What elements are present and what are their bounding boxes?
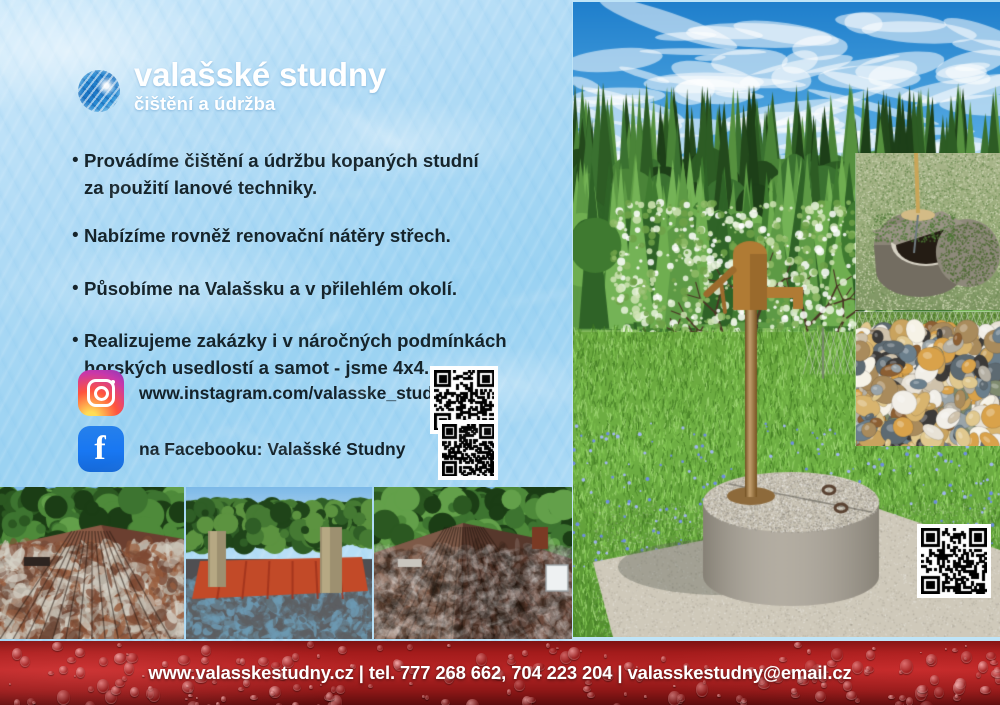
left-info-panel: valašské studny čištění a údržba • Prová… — [0, 0, 572, 641]
instagram-url[interactable]: www.instagram.com/valasske_studny/ — [139, 383, 458, 404]
list-item: • Působíme na Valašsku a v přilehlém oko… — [72, 276, 542, 303]
open-stone-well-photo — [855, 153, 1000, 310]
river-pebbles-canvas — [856, 312, 1000, 446]
service-line-1: Provádíme čištění a údržbu kopaných stud… — [84, 150, 479, 171]
service-line-1: Působíme na Valašsku a v přilehlém okolí… — [84, 278, 457, 299]
roof-photo-3-canvas — [374, 487, 572, 639]
open-stone-well-canvas — [856, 153, 1000, 310]
service-text: Provádíme čištění a údržbu kopaných stud… — [84, 148, 479, 201]
water-ripple — [49, 215, 69, 225]
list-item: • Nabízíme rovněž renovační nátěry střec… — [72, 223, 542, 250]
instagram-lens-shape — [94, 386, 109, 401]
logo: valašské studny čištění a údržba — [78, 58, 386, 115]
logo-text-block: valašské studny čištění a údržba — [134, 58, 386, 115]
service-line-2: za použití lanové techniky. — [84, 175, 479, 202]
services-list: • Provádíme čištění a údržbu kopaných st… — [72, 148, 542, 403]
bullet-marker: • — [72, 148, 84, 201]
water-ripple — [174, 14, 199, 28]
instagram-dot-shape — [111, 380, 115, 384]
instagram-icon[interactable] — [78, 370, 124, 416]
contact-footer: www.valasskestudny.cz | tel. 777 268 662… — [0, 641, 1000, 705]
company-name: valašské studny — [134, 58, 386, 92]
company-tagline: čištění a údržba — [134, 93, 386, 115]
roof-photo-1-canvas — [0, 487, 184, 639]
bullet-marker: • — [72, 223, 84, 250]
facebook-qr-code[interactable] — [438, 420, 498, 480]
roof-photo-2-canvas — [186, 487, 372, 639]
roof-photo-before — [0, 487, 184, 639]
water-ripple — [527, 41, 563, 61]
bullet-marker: • — [72, 276, 84, 303]
service-text: Nabízíme rovněž renovační nátěry střech. — [84, 223, 451, 250]
website-qr-code[interactable] — [917, 524, 991, 598]
flyer-canvas: valašské studny čištění a údržba • Prová… — [0, 0, 1000, 705]
service-line-1: Nabízíme rovněž renovační nátěry střech. — [84, 225, 451, 246]
service-line-1: Realizujeme zakázky i v náročných podmín… — [84, 330, 507, 351]
facebook-f-glyph: f — [78, 426, 124, 472]
roof-photo-strip — [0, 487, 572, 639]
water-globe-icon — [78, 70, 120, 112]
facebook-handle[interactable]: na Facebooku: Valašské Studny — [139, 439, 405, 460]
river-pebbles-photo — [855, 311, 1000, 446]
roof-photo-after — [374, 487, 572, 639]
roof-photo-during — [186, 487, 372, 639]
service-text: Působíme na Valašsku a v přilehlém okolí… — [84, 276, 457, 303]
contact-line[interactable]: www.valasskestudny.cz | tel. 777 268 662… — [0, 641, 1000, 705]
hand-pump-and-concrete-well-photo — [573, 2, 1000, 637]
list-item: • Provádíme čištění a údržbu kopaných st… — [72, 148, 542, 201]
facebook-icon[interactable]: f — [78, 426, 124, 472]
